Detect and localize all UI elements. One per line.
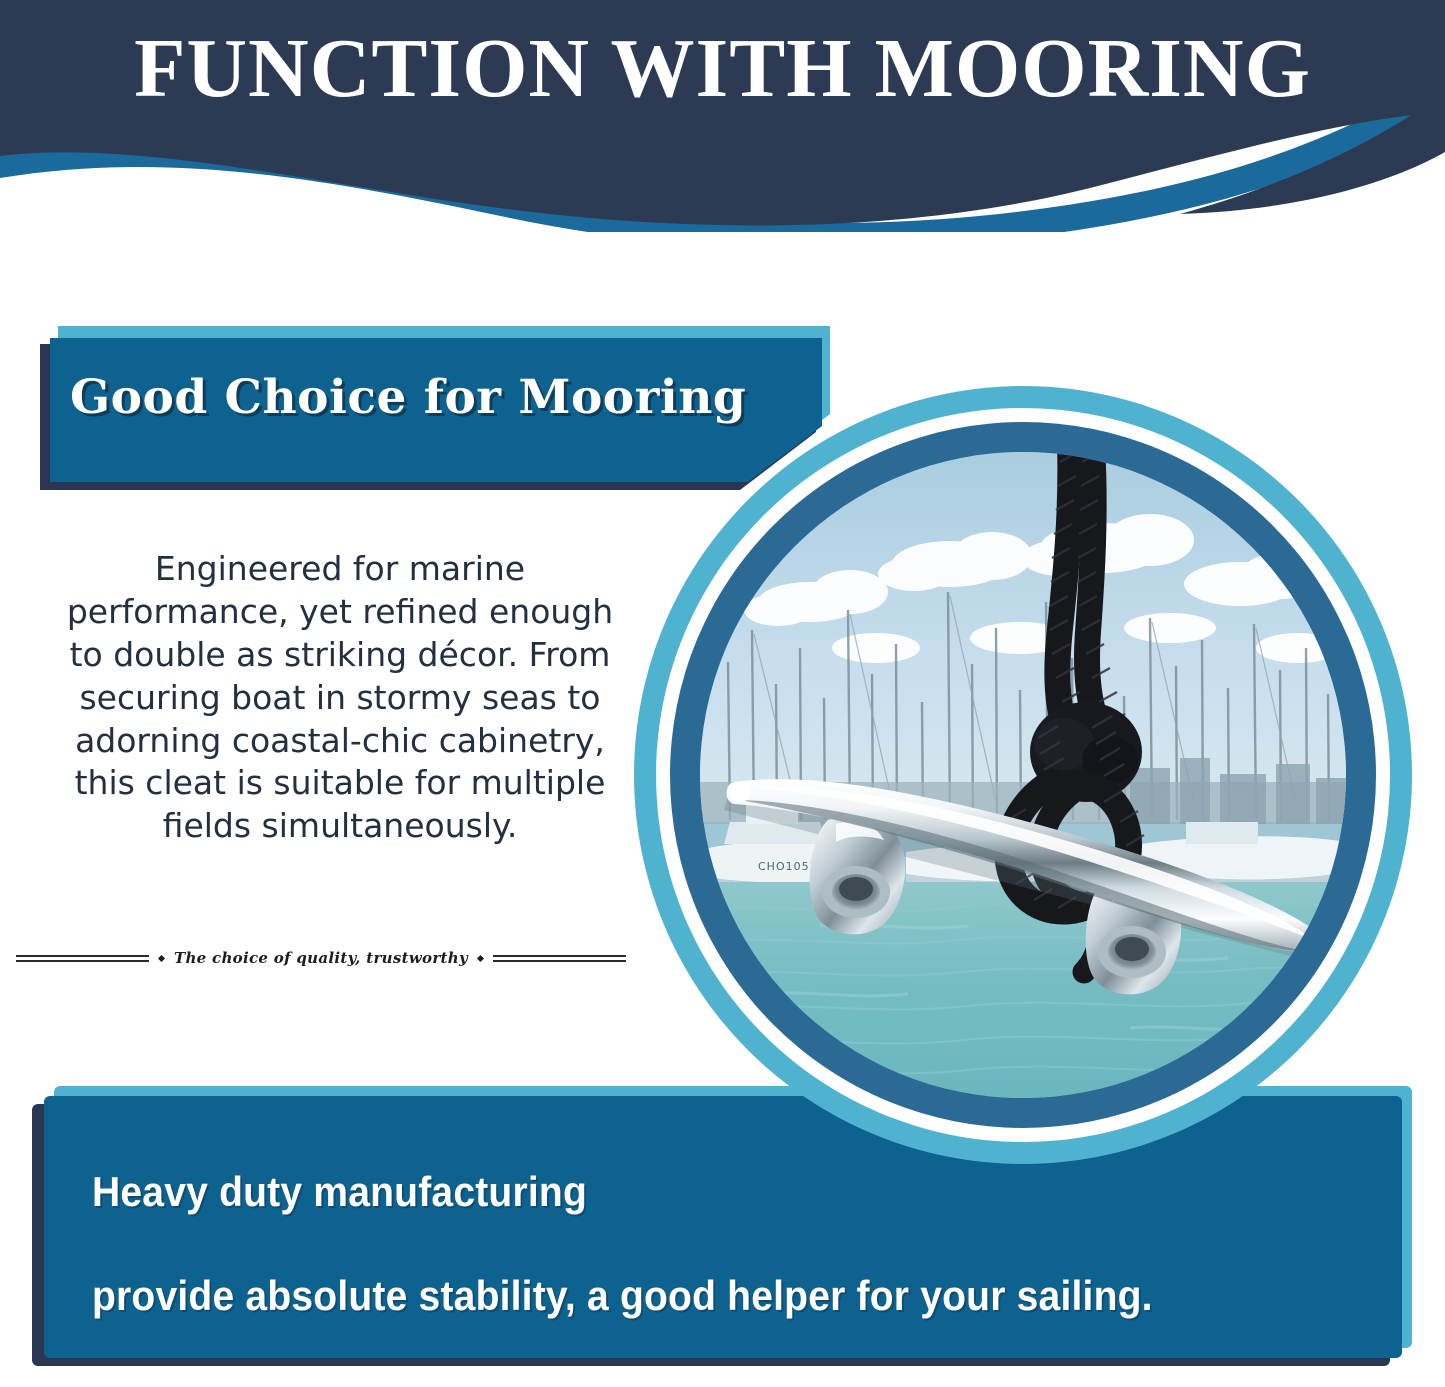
banner-bottom-line-1: Heavy duty manufacturing [92,1168,587,1216]
photo-image: CHO10570 [700,452,1346,1098]
marina-cleat-illustration: CHO10570 [700,452,1346,1098]
banner-top-heading: Good Choice for Mooring [70,370,746,425]
diamond-bullet-icon [477,954,484,961]
tagline-rule-left [16,955,149,962]
tagline-rule-right [493,955,626,962]
product-photo-circle: CHO10570 [634,386,1412,1164]
tagline-row: The choice of quality, trustworthy [16,938,626,978]
body-paragraph: Engineered for marine performance, yet r… [50,548,630,848]
diamond-bullet-icon [158,954,165,961]
tagline-text: The choice of quality, trustworthy [174,949,468,967]
header-banner: FUNCTION WITH MOORING FUNCTION WITH MOOR… [0,0,1445,232]
banner-bottom-line-2: provide absolute stability, a good helpe… [92,1272,1153,1320]
infographic-canvas: FUNCTION WITH MOORING FUNCTION WITH MOOR… [0,0,1445,1387]
